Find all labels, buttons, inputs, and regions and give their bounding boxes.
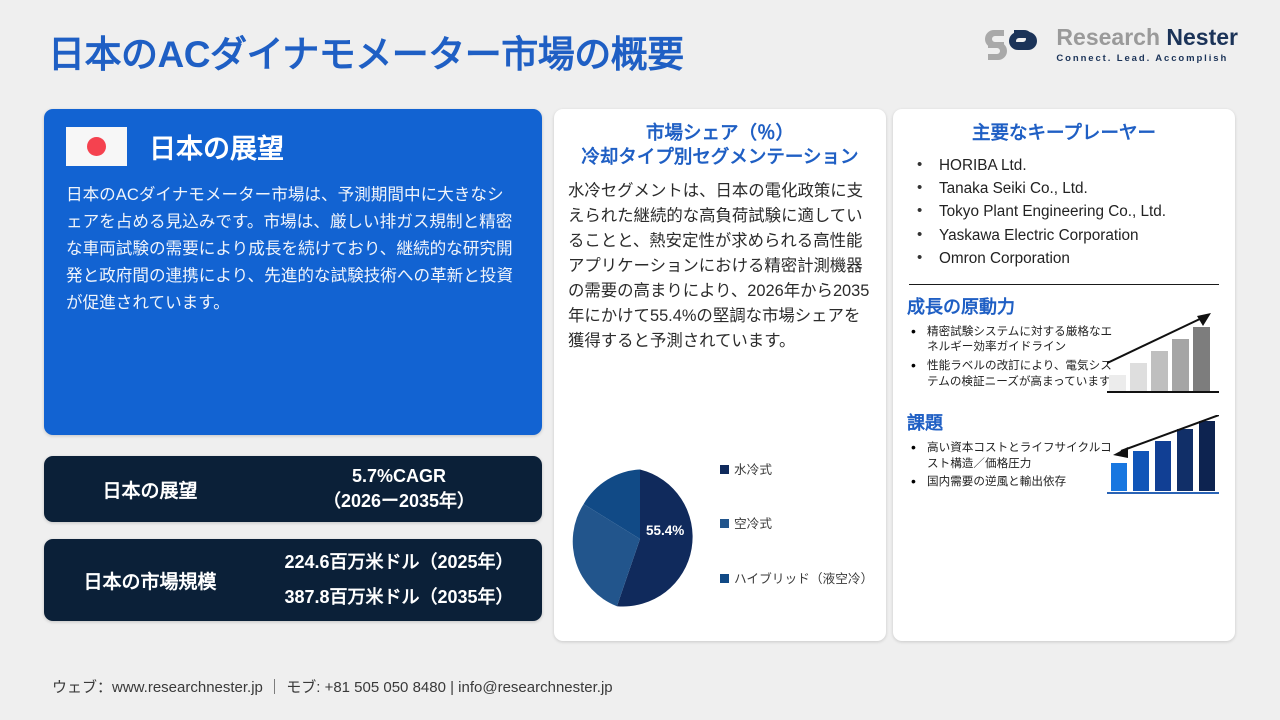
logo-tagline: Connect. Lead. Accomplish (1056, 54, 1238, 64)
section-divider (909, 284, 1219, 285)
stat-size-value-2025: 224.6百万米ドル（2025年） (256, 550, 542, 575)
logo-mark-icon (984, 26, 1046, 64)
stat-size-value: 224.6百万米ドル（2025年） 387.8百万米ドル（2035年） (256, 550, 542, 610)
legend-item-air-cooled: 空冷式 (720, 515, 880, 533)
growth-drivers-section: 成長の原動力 精密試験システムに対する厳格なエネルギー効率ガイドライン 性能ラベ… (907, 293, 1221, 389)
stat-card-market-size: 日本の市場規模 224.6百万米ドル（2025年） 387.8百万米ドル（203… (44, 539, 542, 621)
list-item: Tanaka Seiki Co., Ltd. (907, 178, 1221, 200)
market-share-title-line2: 冷却タイプ別セグメンテーション (568, 145, 872, 169)
list-item: 性能ラベルの改訂により、電気システムの検証ニーズが高まっています (907, 358, 1121, 389)
page-title: 日本のACダイナモメーター市場の概要 (48, 24, 684, 78)
legend-swatch-icon-water (720, 465, 729, 474)
key-players-list: HORIBA Ltd. Tanaka Seiki Co., Ltd. Tokyo… (907, 155, 1221, 270)
logo-name-research: Research (1056, 24, 1160, 50)
cooling-type-pie-chart (566, 465, 714, 613)
stat-size-value-2035: 387.8百万米ドル（2035年） (256, 585, 542, 610)
slide-root: 日本のACダイナモメーター市場の概要 Research Nester Conne… (0, 0, 1280, 720)
pie-chart-area: 55.4% 水冷式 空冷式 ハイブリッド（液空冷） (560, 461, 880, 633)
legend-label-hybrid: ハイブリッド（液空冷） (734, 570, 873, 588)
left-column: 日本の展望 日本のACダイナモメーター市場は、予測期間中に大きなシェアを占める見… (44, 109, 542, 621)
market-share-body: 水冷セグメントは、日本の電化政策に支えられた継続的な高負荷試験に適していることと… (568, 179, 872, 354)
japan-flag-icon (66, 127, 127, 166)
stat-cagr-value-line1: 5.7%CAGR (256, 464, 542, 489)
list-item: Tokyo Plant Engineering Co., Ltd. (907, 201, 1221, 223)
stat-size-label: 日本の市場規模 (44, 567, 256, 594)
right-column: 主要なキープレーヤー HORIBA Ltd. Tanaka Seiki Co.,… (893, 109, 1235, 641)
brand-logo: Research Nester Connect. Lead. Accomplis… (984, 26, 1238, 64)
stat-cagr-value-line2: （2026ー2035年） (256, 489, 542, 514)
stat-cagr-value: 5.7%CAGR （2026ー2035年） (256, 464, 542, 514)
outlook-title: 日本の展望 (149, 127, 284, 166)
stat-card-cagr: 日本の展望 5.7%CAGR （2026ー2035年） (44, 456, 542, 522)
logo-text: Research Nester Connect. Lead. Accomplis… (1056, 26, 1238, 64)
key-players-title: 主要なキープレーヤー (907, 121, 1221, 145)
list-item: 精密試験システムに対する厳格なエネルギー効率ガイドライン (907, 324, 1121, 355)
legend-label-water: 水冷式 (734, 461, 772, 479)
market-share-card: 市場シェア（％） 冷却タイプ別セグメンテーション 水冷セグメントは、日本の電化政… (554, 109, 886, 641)
list-item: Yaskawa Electric Corporation (907, 225, 1221, 247)
legend-swatch-icon-air (720, 519, 729, 528)
middle-column: 市場シェア（％） 冷却タイプ別セグメンテーション 水冷セグメントは、日本の電化政… (554, 109, 886, 641)
key-players-card: 主要なキープレーヤー HORIBA Ltd. Tanaka Seiki Co.,… (893, 109, 1235, 641)
list-item: 国内需要の逆風と輸出依存 (907, 474, 1121, 490)
logo-name-nester: Nester (1166, 24, 1238, 50)
slide-header: 日本のACダイナモメーター市場の概要 Research Nester Conne… (0, 0, 1280, 92)
market-share-title-line1: 市場シェア（％） (568, 121, 872, 145)
challenges-list: 高い資本コストとライフサイクルコスト構造／価格圧力 国内需要の逆風と輸出依存 (907, 440, 1121, 490)
legend-swatch-icon-hybrid (720, 574, 729, 583)
legend-label-air: 空冷式 (734, 515, 772, 533)
pie-legend: 水冷式 空冷式 ハイブリッド（液空冷） (720, 461, 880, 588)
stat-cagr-label: 日本の展望 (44, 476, 256, 503)
list-item: Omron Corporation (907, 248, 1221, 270)
legend-item-hybrid: ハイブリッド（液空冷） (720, 570, 880, 588)
japan-outlook-card: 日本の展望 日本のACダイナモメーター市場は、予測期間中に大きなシェアを占める見… (44, 109, 542, 435)
legend-item-water-cooled: 水冷式 (720, 461, 880, 479)
growth-drivers-chart (1107, 303, 1219, 399)
market-share-title: 市場シェア（％） 冷却タイプ別セグメンテーション (568, 121, 872, 169)
logo-name: Research Nester (1056, 26, 1238, 49)
list-item: 高い資本コストとライフサイクルコスト構造／価格圧力 (907, 440, 1121, 471)
pie-data-label-water: 55.4% (646, 523, 684, 538)
growth-drivers-list: 精密試験システムに対する厳格なエネルギー効率ガイドライン 性能ラベルの改訂により… (907, 324, 1121, 389)
outlook-body: 日本のACダイナモメーター市場は、予測期間中に大きなシェアを占める見込みです。市… (66, 182, 520, 316)
challenges-chart (1107, 415, 1219, 499)
list-item: HORIBA Ltd. (907, 155, 1221, 177)
challenges-section: 課題 高い資本コストとライフサイクルコスト構造／価格圧力 国内需要の逆風と輸出依… (907, 409, 1221, 490)
japan-flag-sun (87, 137, 106, 156)
outlook-card-header: 日本の展望 (66, 127, 520, 166)
footer-contact: ウェブ：www.researchnester.jp ｜ モブ: +81 505 … (52, 676, 613, 697)
